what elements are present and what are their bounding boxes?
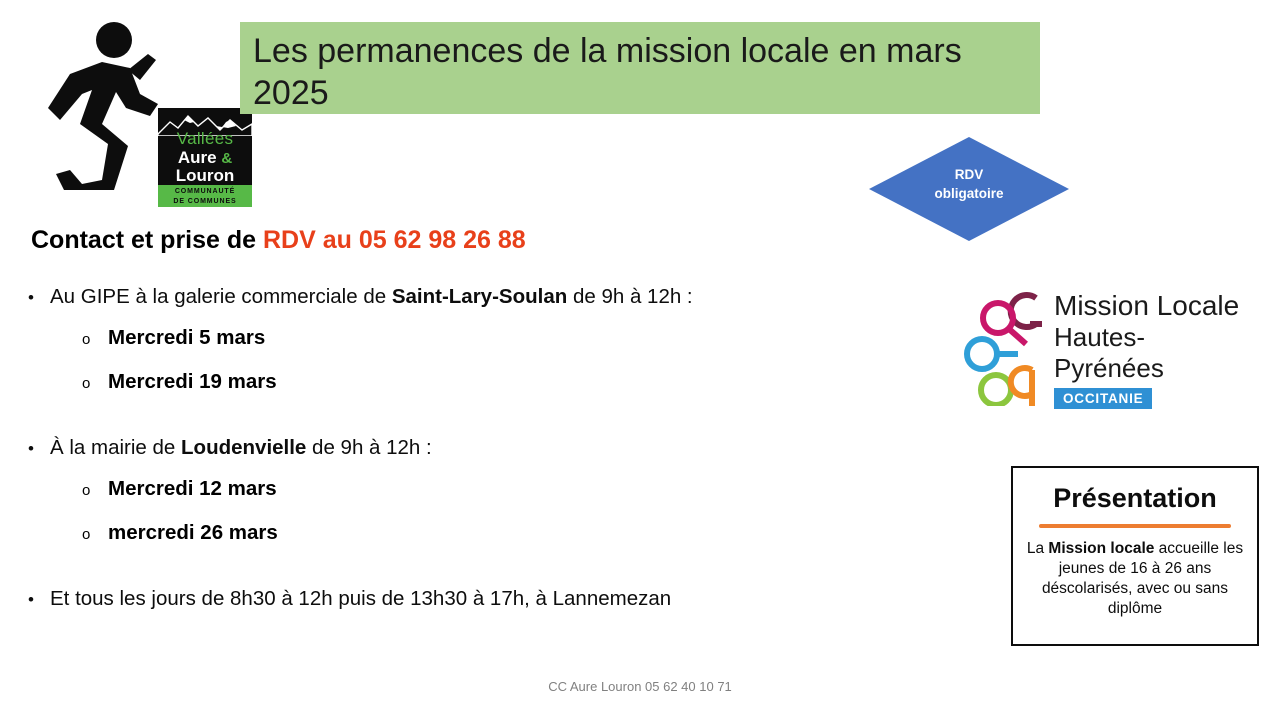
presentation-body-strong: Mission locale — [1048, 540, 1154, 557]
sub-bullet-icon: o — [82, 326, 108, 354]
slide-footer: CC Aure Louron 05 62 40 10 71 — [0, 679, 1280, 694]
page-title: Les permanences de la mission locale en … — [253, 30, 1024, 114]
permanences-list: • Au GIPE à la galerie commerciale de Sa… — [28, 283, 858, 626]
list-item-text: À la mairie de Loudenvielle de 9h à 12h … — [50, 434, 432, 462]
diamond-shape-icon — [869, 137, 1069, 241]
vallees-aure-louron-logo: Vallées Aure & Louron COMMUNAUTÉ DE COMM… — [158, 108, 252, 207]
sub-list-item-text: Mercredi 19 mars — [108, 368, 277, 396]
lead-strong: Loudenvielle — [181, 436, 306, 459]
list-item-text: Au GIPE à la galerie commerciale de Sain… — [50, 283, 693, 311]
sub-list-item-text: Mercredi 5 mars — [108, 324, 265, 352]
occitanie-badge: OCCITANIE — [1054, 388, 1152, 409]
mission-locale-logo: Mission Locale Hautes-Pyrénées OCCITANIE — [962, 288, 1252, 410]
presentation-body: La Mission locale accueille les jeunes d… — [1023, 539, 1247, 619]
sub-bullet-icon: o — [82, 477, 108, 505]
mission-locale-circles-icon — [962, 288, 1044, 406]
cc-logo-aure: Aure & — [158, 148, 252, 168]
lead-before: Au GIPE à la galerie commerciale de — [50, 285, 392, 308]
lead-after: de 9h à 12h : — [306, 436, 431, 459]
sub-bullet-icon: o — [82, 521, 108, 549]
contact-phone-number: RDV au 05 62 98 26 88 — [263, 226, 526, 254]
presentation-divider — [1039, 524, 1231, 528]
sub-list-item-text: Mercredi 12 mars — [108, 475, 277, 503]
community-logo-group: Vallées Aure & Louron COMMUNAUTÉ DE COMM… — [30, 12, 230, 197]
contact-heading: Contact et prise de RDV au 05 62 98 26 8… — [31, 224, 526, 256]
contact-prefix: Contact et prise de — [31, 226, 263, 254]
presentation-box: Présentation La Mission locale accueille… — [1011, 466, 1259, 646]
cc-logo-band: COMMUNAUTÉ DE COMMUNES — [158, 185, 252, 207]
list-item: • Et tous les jours de 8h30 à 12h puis d… — [28, 585, 858, 614]
presentation-title: Présentation — [1023, 482, 1247, 514]
cc-logo-louron: Louron — [158, 166, 252, 185]
lead-before: À la mairie de — [50, 436, 181, 459]
sub-list-item-text: mercredi 26 mars — [108, 519, 278, 547]
group-spacer — [28, 412, 858, 434]
sub-list-item: o Mercredi 5 mars — [82, 324, 858, 354]
title-banner: Les permanences de la mission locale en … — [240, 22, 1040, 114]
sub-list-item: o Mercredi 12 mars — [82, 475, 858, 505]
cc-logo-vallees: Vallées — [158, 130, 252, 148]
list-item: • À la mairie de Loudenvielle de 9h à 12… — [28, 434, 858, 463]
cc-logo-ampersand: & — [221, 150, 232, 167]
rdv-required-callout: RDV obligatoire — [869, 137, 1069, 241]
list-item: • Au GIPE à la galerie commerciale de Sa… — [28, 283, 858, 312]
mission-locale-line2: Hautes-Pyrénées — [1054, 322, 1254, 384]
bullet-icon: • — [28, 284, 50, 312]
mission-locale-line1: Mission Locale — [1054, 290, 1254, 322]
list-item-text: Et tous les jours de 8h30 à 12h puis de … — [50, 585, 671, 613]
presentation-body-before: La — [1027, 540, 1049, 557]
sub-list-item: o mercredi 26 mars — [82, 519, 858, 549]
bullet-icon: • — [28, 435, 50, 463]
group-spacer — [28, 563, 858, 585]
mission-locale-wordmark: Mission Locale Hautes-Pyrénées OCCITANIE — [1054, 290, 1254, 409]
bullet-icon: • — [28, 586, 50, 614]
lead-strong: Saint-Lary-Soulan — [392, 285, 567, 308]
sub-list-item: o Mercredi 19 mars — [82, 368, 858, 398]
cc-band-line1: COMMUNAUTÉ — [158, 187, 252, 197]
cc-band-line2: DE COMMUNES — [158, 197, 252, 207]
sub-bullet-icon: o — [82, 370, 108, 398]
lead-after: de 9h à 12h : — [567, 285, 692, 308]
